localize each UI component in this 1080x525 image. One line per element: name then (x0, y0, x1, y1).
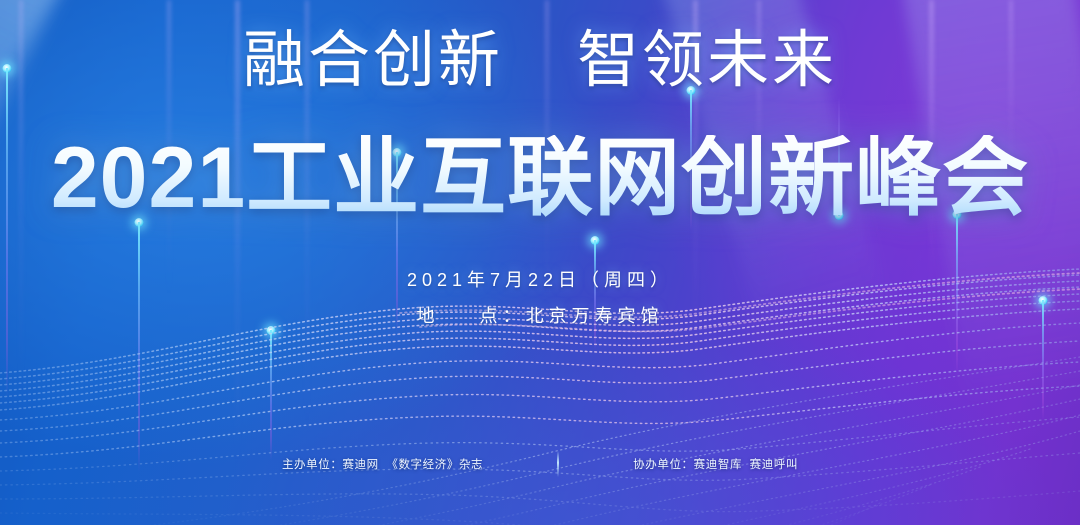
poster-main-title: 2021工业互联网创新峰会 (0, 135, 1080, 221)
beam-accent (956, 214, 958, 374)
footer-host-organizers: 主办单位：赛迪网 《数字经济》杂志 (282, 456, 483, 472)
beam-accent (594, 240, 596, 350)
beam-accent (138, 222, 140, 472)
poster-footer: 主办单位：赛迪网 《数字经济》杂志 协办单位：赛迪智库 赛迪呼叫 (0, 451, 1080, 477)
poster-headline: 融合创新 智领未来 (0, 30, 1080, 92)
conference-poster: 融合创新 智领未来 2021工业互联网创新峰会 2021年7月22日（周四） 地… (0, 0, 1080, 525)
event-date: 2021年7月22日（周四） (0, 266, 1080, 292)
footer-coorganizers: 协办单位：赛迪智库 赛迪呼叫 (633, 456, 798, 472)
beam-dot (591, 236, 600, 245)
footer-divider (557, 451, 559, 477)
event-location: 地 点：北京万寿宾馆 (0, 302, 1080, 328)
beam-accent (270, 330, 272, 460)
beam-accent (6, 68, 8, 398)
